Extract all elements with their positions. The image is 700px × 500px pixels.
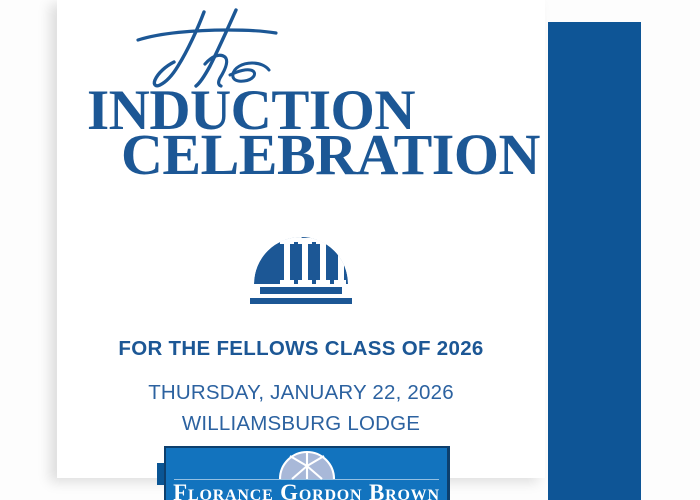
accent-panel-right — [548, 22, 641, 500]
headline-block: INDUCTION CELEBRATION — [57, 0, 545, 190]
headline-line-celebration: CELEBRATION — [57, 126, 545, 184]
event-venue-line: WILLIAMSBURG LODGE — [57, 412, 545, 436]
sponsor-name-text: Florance Gordon Brown — [166, 480, 447, 500]
event-date-line: THURSDAY, JANUARY 22, 2026 — [57, 381, 545, 405]
fellows-class-line: FOR THE FELLOWS CLASS OF 2026 — [57, 337, 545, 361]
invitation-card: INDUCTION CELEBRATION — [57, 0, 545, 478]
fanlight-window-icon — [278, 450, 336, 480]
invitation-graphic: INDUCTION CELEBRATION — [0, 0, 700, 500]
sponsor-banner: Florance Gordon Brown — [164, 446, 450, 500]
classical-building-emblem-icon — [246, 196, 356, 306]
